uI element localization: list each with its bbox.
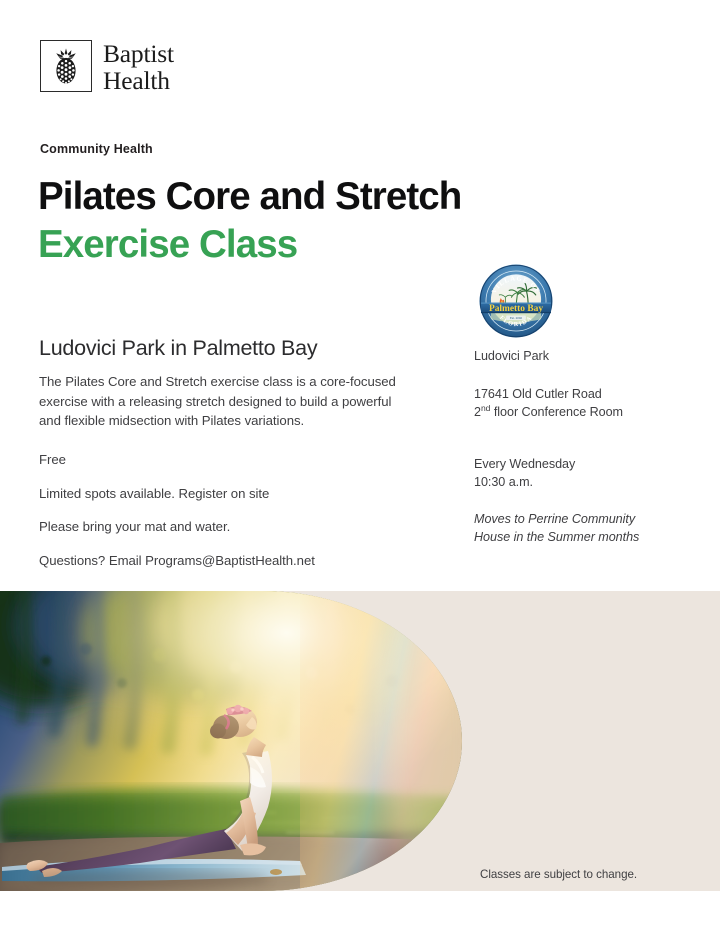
brand-wordmark: Baptist Health	[103, 40, 174, 95]
page-title-line1: Pilates Core and Stretch	[38, 177, 461, 218]
seal-banner-text: Palmetto Bay	[489, 304, 543, 314]
pineapple-icon	[40, 40, 92, 92]
location-subhead: Ludovici Park in Palmetto Bay	[39, 336, 317, 361]
class-description: The Pilates Core and Stretch exercise cl…	[39, 372, 414, 431]
page-title-line2: Exercise Class	[38, 225, 297, 266]
venue-name: Ludovici Park	[474, 348, 689, 366]
detail-contact-email[interactable]: Questions? Email Programs@BaptistHealth.…	[39, 553, 439, 568]
floor-ordinal-suffix: nd	[481, 403, 490, 413]
schedule-time: 10:30 a.m.	[474, 474, 689, 492]
venue-address-line1: 17641 Old Cutler Road	[474, 386, 689, 404]
brand-name-line2: Health	[103, 68, 174, 95]
brand-name-line1: Baptist	[103, 39, 174, 68]
venue-address-line2: 2nd floor Conference Room	[474, 404, 689, 422]
eyebrow-label: Community Health	[40, 142, 153, 156]
left-detail-list: Free Limited spots available. Register o…	[39, 452, 439, 568]
village-seal-icon: VILLAGE OF FLORIDA Palmetto Bay Est. 200…	[478, 263, 554, 339]
schedule-day: Every Wednesday	[474, 456, 689, 474]
seasonal-note-line1: Moves to Perrine Community	[474, 511, 689, 529]
yoga-photo	[0, 591, 462, 891]
detail-cost: Free	[39, 452, 439, 467]
detail-bring: Please bring your mat and water.	[39, 519, 439, 534]
detail-registration: Limited spots available. Register on sit…	[39, 486, 439, 501]
bottom-band: Classes are subject to change.	[0, 591, 720, 891]
flyer-page: Baptist Health Community Health Pilates …	[0, 0, 720, 931]
seasonal-note-line2: House in the Summer months	[474, 529, 689, 547]
spacer	[474, 442, 689, 456]
brand-logo: Baptist Health	[40, 40, 174, 95]
floor-room-label: floor Conference Room	[490, 405, 623, 419]
floor-number: 2	[474, 405, 481, 419]
disclaimer-text: Classes are subject to change.	[480, 868, 637, 881]
seal-established-text: Est. 2002	[510, 316, 522, 320]
venue-details: Ludovici Park 17641 Old Cutler Road 2nd …	[474, 348, 689, 547]
venue-address-block: 17641 Old Cutler Road 2nd floor Conferen…	[474, 386, 689, 422]
schedule-block: Every Wednesday 10:30 a.m.	[474, 456, 689, 492]
venue-name-block: Ludovici Park	[474, 348, 689, 366]
seasonal-note-block: Moves to Perrine Community House in the …	[474, 511, 689, 547]
